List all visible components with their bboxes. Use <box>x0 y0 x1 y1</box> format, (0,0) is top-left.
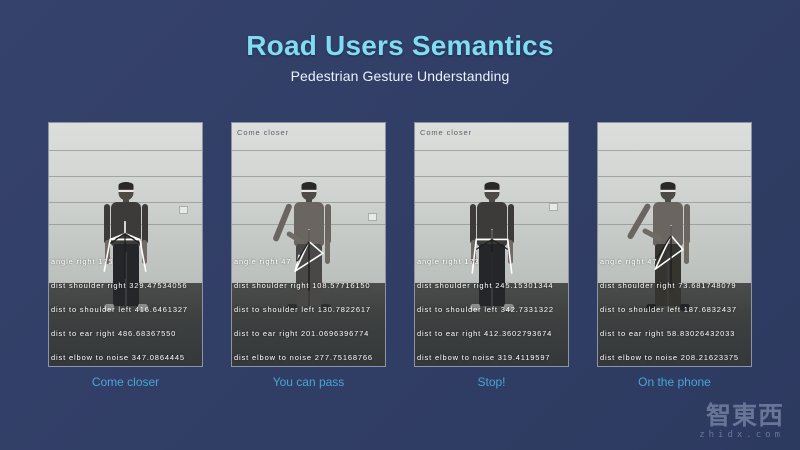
metric-overlay-list: angle right 47 dist shoulder right 73.68… <box>600 257 752 362</box>
metric-overlay-list: angle right 175 dist shoulder right 329.… <box>51 257 203 362</box>
metric-angle-right: angle right 173 <box>417 257 569 266</box>
metric-dist-to-shoulder-left: dist to shoulder left 416.6461327 <box>51 305 203 314</box>
page-title: Road Users Semantics <box>0 30 800 62</box>
metric-dist-to-ear-right: dist to ear right 412.3602793674 <box>417 329 569 338</box>
gesture-panel[interactable]: Come closer angle right 47 dist shoulder… <box>231 122 386 367</box>
metric-dist-to-shoulder-left: dist to shoulder left 187.6832437 <box>600 305 752 314</box>
metric-dist-elbow-to-noise: dist elbow to noise 347.0864445 <box>51 353 203 362</box>
page-subtitle: Pedestrian Gesture Understanding <box>0 68 800 84</box>
metric-dist-elbow-to-noise: dist elbow to noise 319.4119597 <box>417 353 569 362</box>
panel-caption-on-the-phone: On the phone <box>597 375 752 389</box>
metric-overlay-list: angle right 173 dist shoulder right 245.… <box>417 257 569 362</box>
metric-angle-right: angle right 175 <box>51 257 203 266</box>
gesture-panel[interactable]: Come closer angle right 173 dist shoulde… <box>414 122 569 367</box>
gesture-panel[interactable]: angle right 47 dist shoulder right 73.68… <box>597 122 752 367</box>
metric-dist-shoulder-right: dist shoulder right 329.47534056 <box>51 281 203 290</box>
metric-dist-to-ear-right: dist to ear right 201.0696396774 <box>234 329 386 338</box>
metric-angle-right: angle right 47 <box>600 257 752 266</box>
metric-angle-right: angle right 47 <box>234 257 386 266</box>
panel-caption-you-can-pass: You can pass <box>231 375 386 389</box>
metric-overlay-list: angle right 47 dist shoulder right 108.5… <box>234 257 386 362</box>
gesture-panel-strip: angle right 175 dist shoulder right 329.… <box>48 122 752 367</box>
watermark: 智東西 zhidx.com <box>699 403 784 440</box>
metric-dist-shoulder-right: dist shoulder right 108.57716150 <box>234 281 386 290</box>
frame-gesture-label: Come closer <box>237 128 289 137</box>
metric-dist-to-shoulder-left: dist to shoulder left 342.7331322 <box>417 305 569 314</box>
metric-dist-shoulder-right: dist shoulder right 73.681748079 <box>600 281 752 290</box>
gesture-panel[interactable]: angle right 175 dist shoulder right 329.… <box>48 122 203 367</box>
frame-gesture-label: Come closer <box>420 128 472 137</box>
panel-caption-stop: Stop! <box>414 375 569 389</box>
watermark-domain-text: zhidx.com <box>699 430 784 440</box>
metric-dist-to-ear-right: dist to ear right 58.83026432033 <box>600 329 752 338</box>
metric-dist-elbow-to-noise: dist elbow to noise 277.75168766 <box>234 353 386 362</box>
panel-caption-come-closer: Come closer <box>48 375 203 389</box>
slide-root: Road Users Semantics Pedestrian Gesture … <box>0 0 800 450</box>
metric-dist-shoulder-right: dist shoulder right 245.15301344 <box>417 281 569 290</box>
watermark-chinese-text: 智東西 <box>699 403 784 428</box>
metric-dist-to-ear-right: dist to ear right 486.68367550 <box>51 329 203 338</box>
metric-dist-elbow-to-noise: dist elbow to noise 208.21623375 <box>600 353 752 362</box>
metric-dist-to-shoulder-left: dist to shoulder left 130.7822617 <box>234 305 386 314</box>
caption-row: Come closer You can pass Stop! On the ph… <box>48 375 752 389</box>
